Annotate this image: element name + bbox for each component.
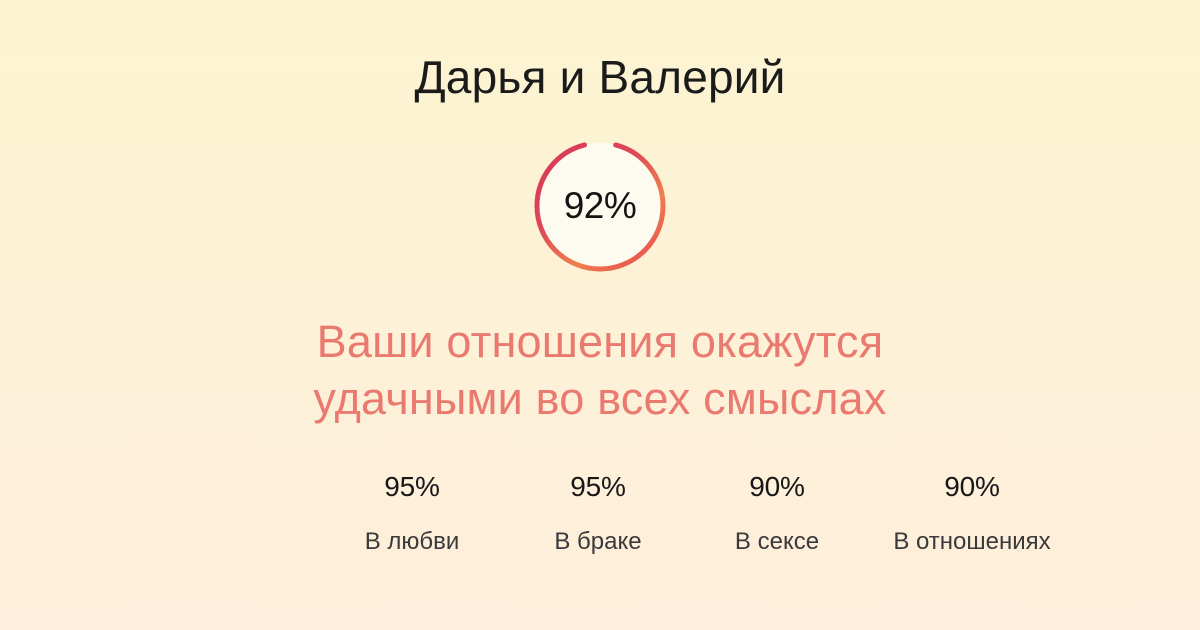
compatibility-result-card: Дарья и Валерий 92% Ваши отношения окажу… <box>0 0 1200 630</box>
stat-value: 95% <box>570 472 625 503</box>
result-headline-line-1: Ваши отношения окажутся <box>313 313 886 371</box>
stat-label: В отношениях <box>893 529 1050 555</box>
stat-item-love: 95% В любви <box>319 472 505 555</box>
stat-value: 95% <box>384 472 439 503</box>
page-title: Дарья и Валерий <box>414 0 785 103</box>
score-ring: 92% <box>529 135 671 277</box>
stat-value: 90% <box>944 472 999 503</box>
result-headline-line-2: удачными во всех смыслах <box>313 370 886 428</box>
stat-label: В сексе <box>735 529 819 555</box>
stat-item-marriage: 95% В браке <box>505 472 691 555</box>
stat-label: В любви <box>365 529 460 555</box>
stat-value: 90% <box>749 472 804 503</box>
stats-row: 95% В любви 95% В браке 90% В сексе 90% … <box>0 472 1200 555</box>
score-percent-value: 92% <box>529 135 671 277</box>
stat-item-relationship: 90% В отношениях <box>863 472 1081 555</box>
result-headline: Ваши отношения окажутся удачными во всех… <box>313 277 886 428</box>
stat-label: В браке <box>554 529 641 555</box>
stat-item-sex: 90% В сексе <box>691 472 863 555</box>
